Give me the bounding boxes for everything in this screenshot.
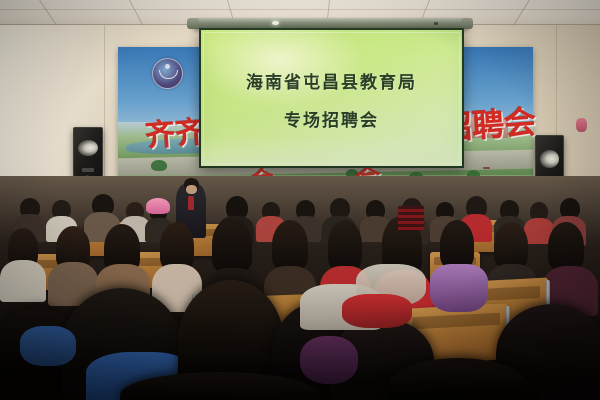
screen-glow xyxy=(201,136,462,166)
audience-head xyxy=(328,220,362,270)
audience-body xyxy=(0,260,46,302)
pink-hat xyxy=(146,198,170,214)
wall-decoration xyxy=(576,118,587,132)
speaker-cone-icon xyxy=(539,149,560,168)
screen-indicator-light xyxy=(272,21,279,25)
screen-roller-screw xyxy=(434,22,438,25)
screen-title-line2: 专场招聘会 xyxy=(201,106,462,131)
foreground-blue-sleeve xyxy=(20,326,76,366)
audience-head xyxy=(272,220,308,270)
plaid-jacket xyxy=(398,206,424,230)
speaker-badge xyxy=(82,168,93,172)
audience-head xyxy=(440,220,474,268)
education-emblem-icon xyxy=(152,58,183,89)
screen-title-line1: 海南省屯昌县教育局 xyxy=(201,68,462,93)
foreground-purple-jacket xyxy=(430,264,488,312)
presenter-tie xyxy=(188,196,194,210)
wall-speaker-left xyxy=(73,127,103,177)
speaker-cone-icon xyxy=(77,140,98,158)
audience-head xyxy=(548,222,584,270)
photo-scene: 齐齐哈 招聘会 会 会 海南省屯昌县教育局 专场招聘会 xyxy=(0,0,600,400)
presenter-face xyxy=(186,185,197,194)
audience-head xyxy=(160,222,194,270)
foreground-violet-jacket xyxy=(300,336,358,384)
wall-seam xyxy=(104,25,105,190)
foreground-red-jacket xyxy=(342,294,412,328)
ceiling-grid-line xyxy=(0,9,600,10)
screen-roller-cap-left xyxy=(187,18,199,29)
audience-area xyxy=(0,176,600,400)
audience-head xyxy=(494,222,528,268)
projection-screen: 海南省屯昌县教育局 专场招聘会 xyxy=(199,28,464,168)
banner-tree xyxy=(151,160,167,171)
audience-head xyxy=(212,218,252,272)
